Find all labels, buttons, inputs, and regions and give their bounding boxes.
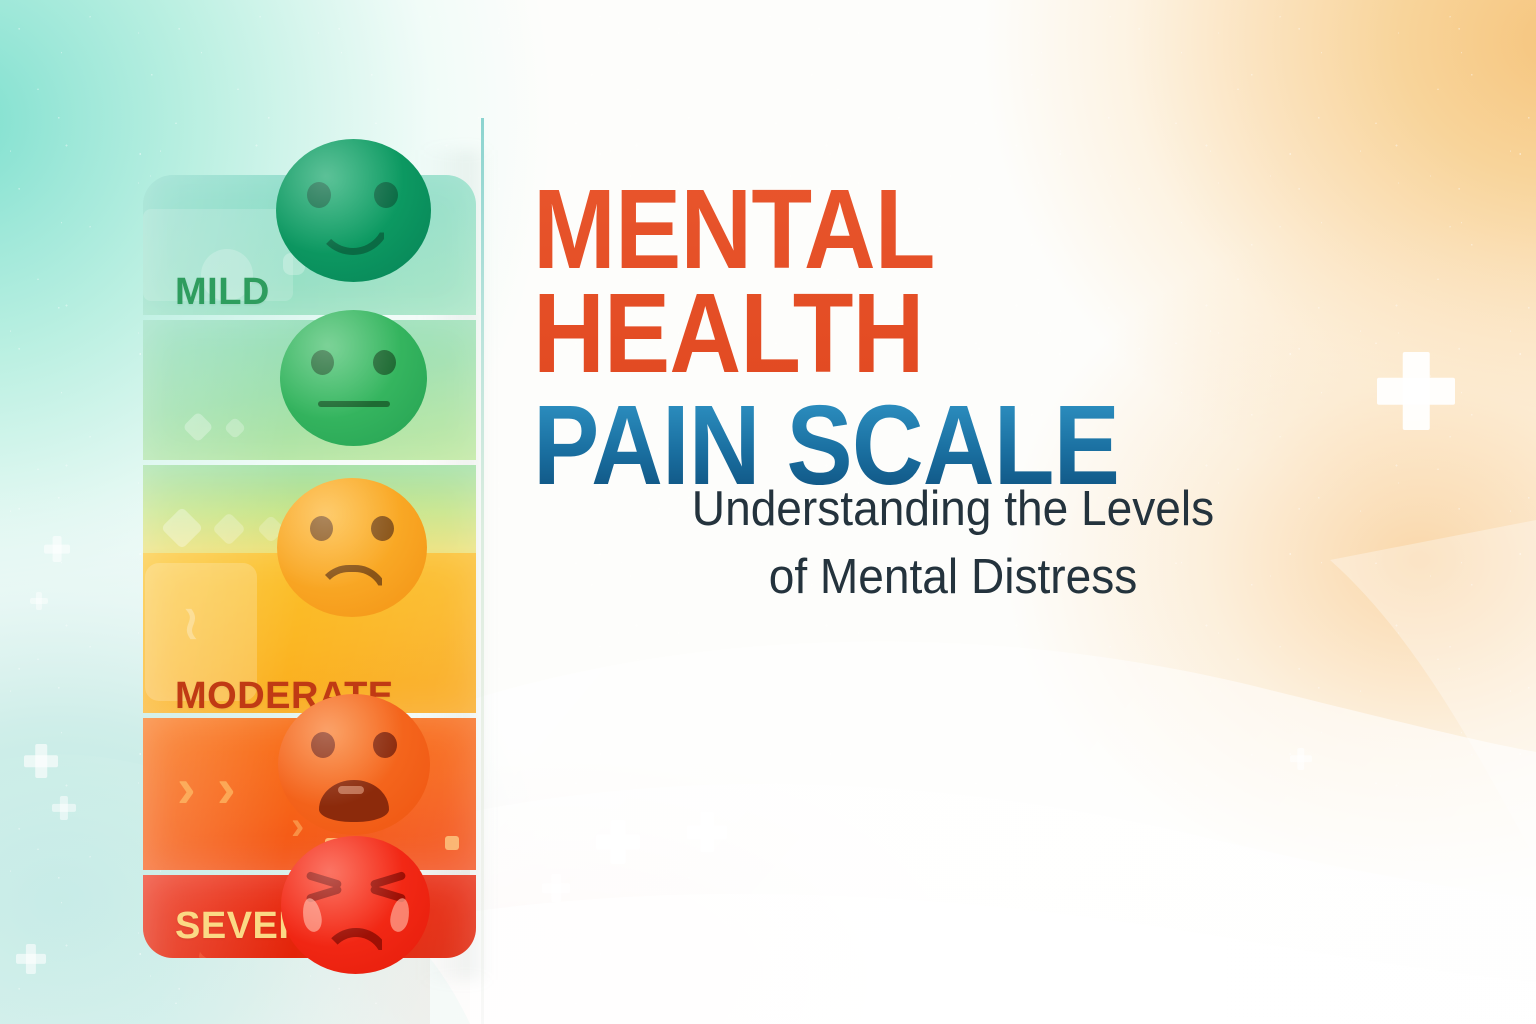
plus-icon-f	[52, 796, 76, 820]
face-gloss	[277, 478, 427, 617]
face-gloss	[278, 694, 430, 835]
plus-icon-i	[30, 592, 48, 610]
face-gloss	[276, 139, 431, 282]
poster-canvas: MILD ∼ MODERATE › › ›	[0, 0, 1536, 1024]
vertical-divider-line	[481, 118, 484, 1024]
plus-icon-h	[44, 536, 70, 562]
plus-icon-g	[16, 944, 46, 974]
poster-subtitle: Understanding the Levels of Mental Distr…	[558, 476, 1348, 611]
upset-face-icon[interactable]	[278, 694, 430, 835]
face-gloss	[280, 310, 427, 446]
plus-icon-a	[596, 820, 640, 864]
sad-face-icon[interactable]	[277, 478, 427, 617]
neutral-face-icon[interactable]	[280, 310, 427, 446]
angry-crying-face-icon[interactable]	[281, 836, 430, 974]
title-line-mental-health: MENTAL HEALTH	[533, 178, 1325, 386]
plus-icon-d	[1290, 748, 1312, 770]
subtitle-line-2: of Mental Distress	[558, 544, 1348, 612]
face-gloss	[281, 836, 430, 974]
poster-headline: MENTAL HEALTH PAIN SCALE	[533, 178, 1433, 498]
plus-icon-e	[24, 744, 58, 778]
band-label-mild: MILD	[175, 271, 270, 314]
plus-icon-b	[687, 812, 727, 852]
happy-face-icon[interactable]	[276, 139, 431, 282]
plus-icon-c	[542, 874, 570, 902]
subtitle-line-1: Understanding the Levels	[558, 476, 1348, 544]
